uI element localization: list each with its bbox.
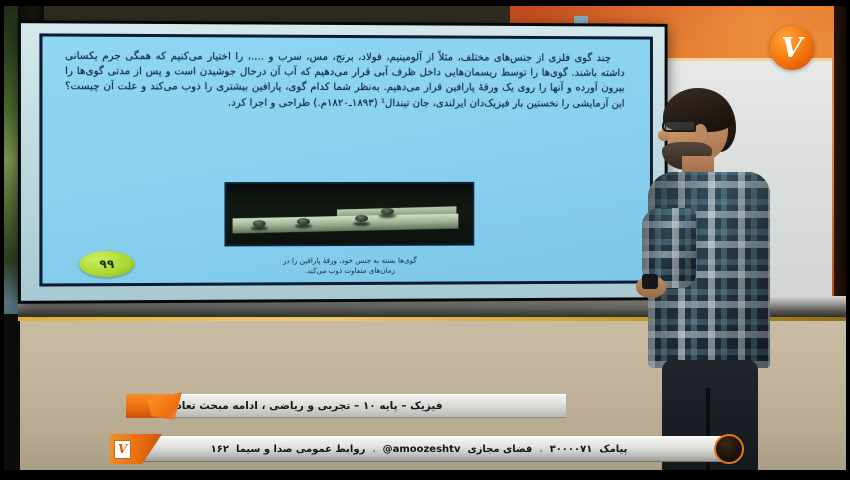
channel-logo-letter: V	[782, 35, 803, 62]
slide-video-inset[interactable]	[224, 182, 474, 247]
presenter-trousers	[662, 360, 758, 480]
video-metal-ball	[381, 208, 394, 215]
info-bar-logo-icon: V	[114, 440, 131, 459]
tv-broadcast-frame: چند گوی فلزی از جنس‌های مختلف، مثلاً از …	[0, 0, 850, 480]
separator-2: ،	[372, 444, 375, 455]
contact-info-text: پیامک ۳۰۰۰۰۷۱ ، فضای مجازی @amoozeshtv ،…	[211, 444, 628, 455]
pr-label: روابط عمومی صدا و سیما	[236, 444, 365, 455]
sms-number: ۳۰۰۰۰۷۱	[550, 444, 593, 455]
sms-label: پیامک	[599, 444, 627, 455]
presenter-leg-split	[706, 388, 710, 480]
letterbox-right	[846, 0, 850, 480]
video-ball-shadow	[353, 222, 370, 226]
social-handle: @amoozeshtv	[383, 444, 461, 455]
pr-number: ۱۶۲	[211, 444, 229, 455]
info-bar-logo-letter: V	[118, 443, 127, 455]
video-metal-ball	[297, 218, 310, 225]
lesson-title-ticker: فیزیک – پایه ۱۰ – تجربی و ریاضی ، ادامه …	[126, 394, 566, 418]
separator-1: ،	[539, 444, 542, 455]
presenter-figure	[636, 88, 786, 480]
presenter-remote	[642, 274, 658, 289]
page-number: ۹۹	[99, 257, 114, 271]
glasses-icon	[662, 120, 696, 132]
letterbox-top	[0, 0, 850, 6]
contact-info-bar: پیامک ۳۰۰۰۰۷۱ ، فضای مجازی @amoozeshtv ،…	[112, 436, 726, 462]
slide-surface: چند گوی فلزی از جنس‌های مختلف، مثلاً از …	[39, 33, 653, 286]
slide-page-badge: ۹۹	[79, 251, 134, 277]
projection-screen[interactable]: چند گوی فلزی از جنس‌های مختلف، مثلاً از …	[18, 20, 668, 304]
video-metal-ball	[253, 220, 266, 227]
letterbox-bottom	[0, 470, 850, 480]
info-bar-right-knob-icon	[714, 434, 744, 464]
social-label: فضای مجازی	[467, 444, 532, 455]
letterbox-left	[0, 0, 4, 480]
channel-logo-icon: V	[770, 26, 814, 70]
video-metal-ball	[355, 215, 368, 222]
slide-paragraph: چند گوی فلزی از جنس‌های مختلف، مثلاً از …	[65, 49, 625, 112]
slide-body-text: چند گوی فلزی از جنس‌های مختلف، مثلاً از …	[65, 49, 625, 112]
